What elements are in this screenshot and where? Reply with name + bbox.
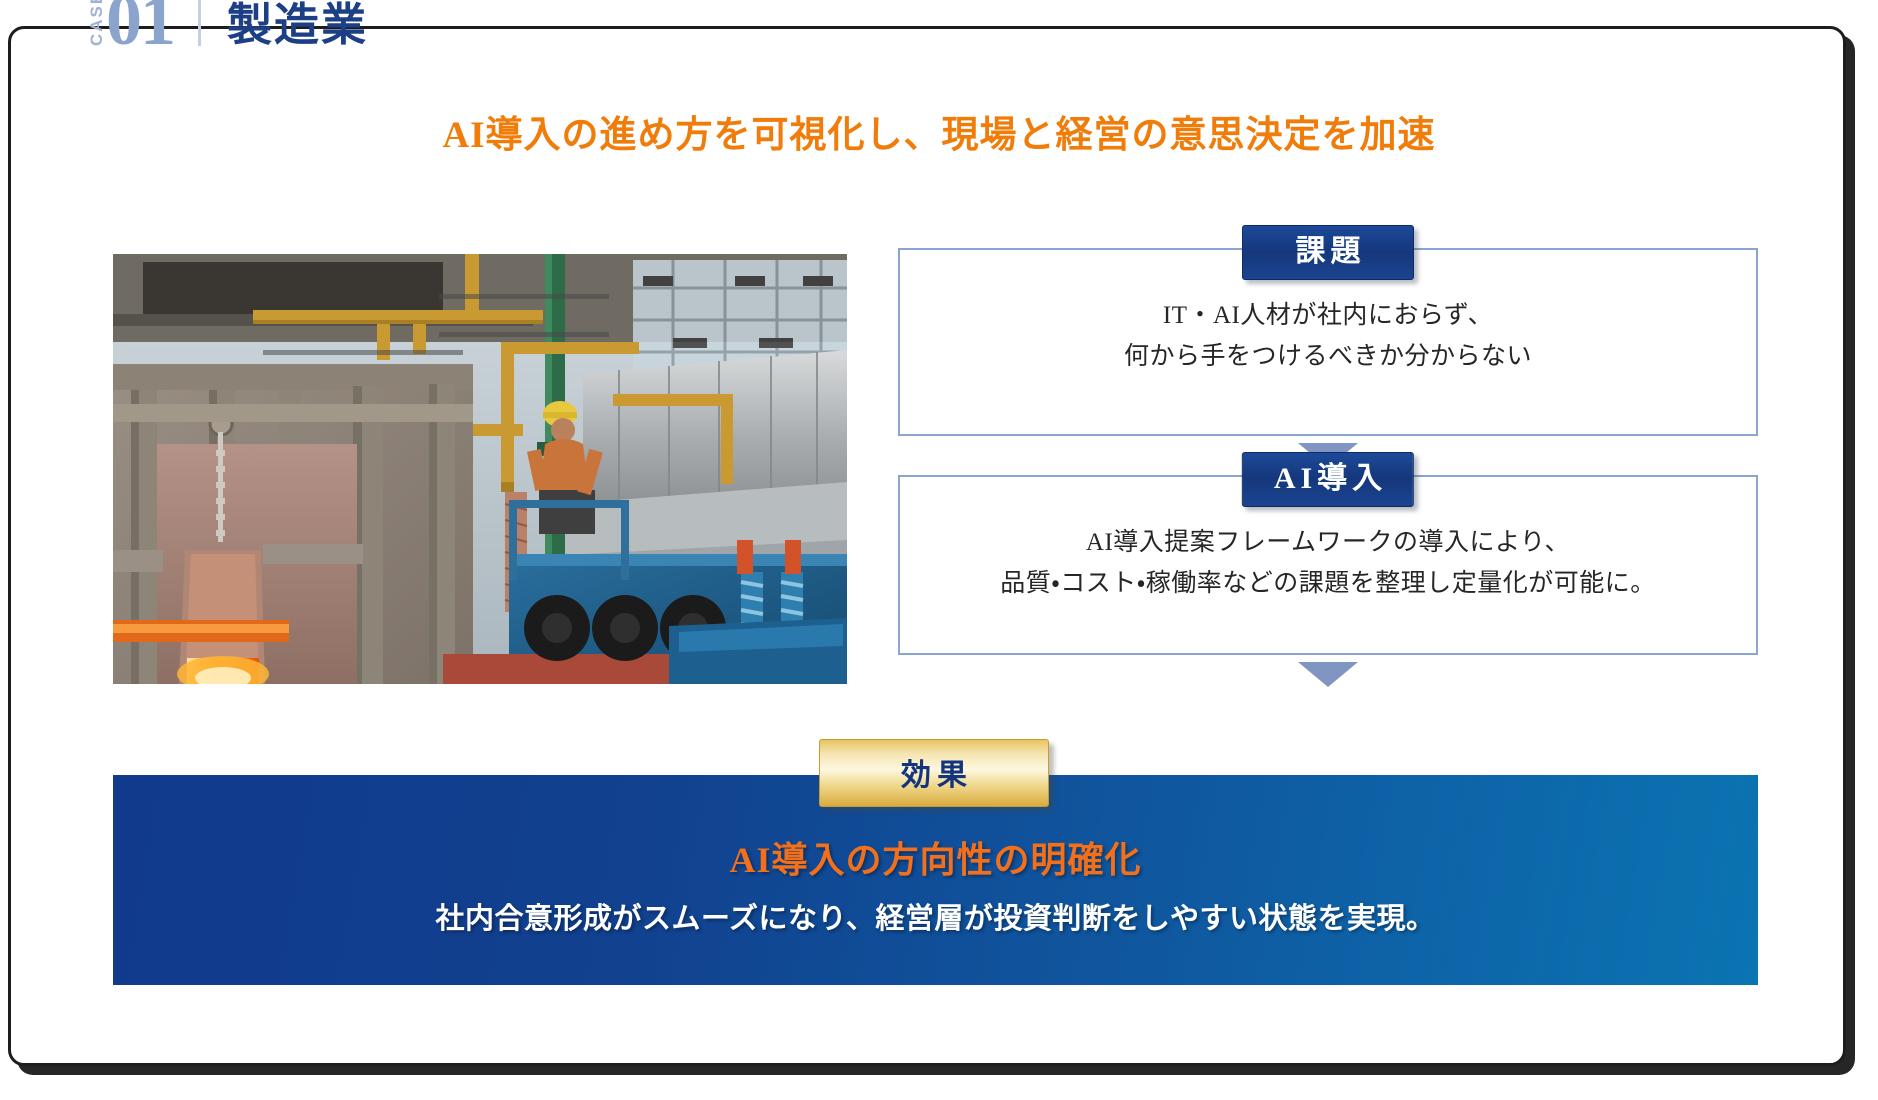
issue-line-2: 何から手をつけるべきか分からない — [924, 337, 1732, 378]
page-title: AI導入の進め方を可視化し、現場と経営の意思決定を加速 — [0, 104, 1878, 158]
issue-tag: 課題 — [1242, 225, 1414, 280]
factory-photo-illustration — [113, 254, 847, 684]
issue-line-1: IT・AI人材が社内におらず、 — [924, 296, 1732, 337]
case-divider — [198, 0, 201, 46]
issue-box: 課題 IT・AI人材が社内におらず、 何から手をつけるべきか分からない — [898, 248, 1758, 436]
effect-title: AI導入の方向性の明確化 — [143, 831, 1728, 883]
arrow-down-icon-2 — [1298, 662, 1358, 687]
ai-intro-line-1: AI導入提案フレームワークの導入により、 — [924, 523, 1732, 564]
case-industry-title: 製造業 — [227, 3, 368, 48]
issue-text: IT・AI人材が社内におらず、 何から手をつけるべきか分からない — [924, 296, 1732, 377]
flow-column: 課題 IT・AI人材が社内におらず、 何から手をつけるべきか分からない AI導入… — [898, 248, 1758, 694]
effect-section: 効果 AI導入の方向性の明確化 社内合意形成がスムーズになり、経営層が投資判断を… — [113, 775, 1758, 985]
ai-intro-line-2: 品質・コスト・稼働率などの課題を整理し定量化が可能に。 — [924, 564, 1732, 605]
effect-tag: 効果 — [819, 739, 1049, 807]
ai-intro-box: AI導入 AI導入提案フレームワークの導入により、 品質・コスト・稼働率などの課… — [898, 475, 1758, 655]
case-label: CASE — [88, 0, 105, 47]
ai-intro-text: AI導入提案フレームワークの導入により、 品質・コスト・稼働率などの課題を整理し… — [924, 523, 1732, 604]
case-header: CASE 01 製造業 — [88, 0, 368, 50]
factory-photo — [113, 254, 847, 684]
effect-subtitle: 社内合意形成がスムーズになり、経営層が投資判断をしやすい状態を実現。 — [143, 895, 1728, 937]
ai-intro-tag: AI導入 — [1242, 452, 1414, 507]
case-number: 01 — [106, 0, 174, 50]
